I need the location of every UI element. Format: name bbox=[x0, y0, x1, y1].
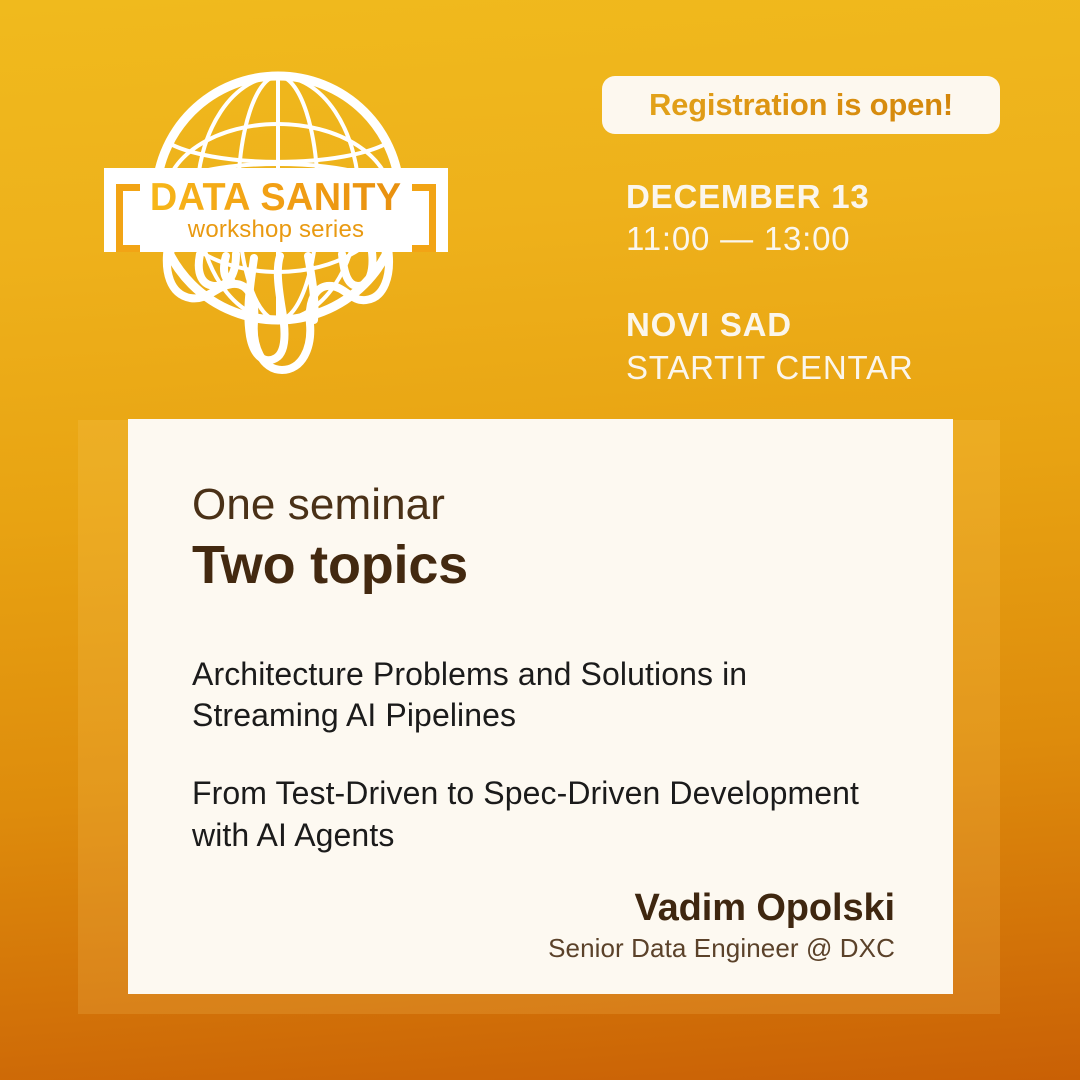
registration-label: Registration is open! bbox=[649, 87, 953, 123]
brand-logo: DATA SANITY workshop series bbox=[104, 58, 452, 388]
topic-list: Architecture Problems and Solutions in S… bbox=[192, 654, 895, 856]
event-details: DECEMBER 13 11:00 — 13:00 NOVI SAD START… bbox=[626, 176, 1046, 389]
event-date: DECEMBER 13 bbox=[626, 176, 1046, 218]
registration-badge[interactable]: Registration is open! bbox=[602, 76, 1000, 134]
topic-item: From Test-Driven to Spec-Driven Developm… bbox=[192, 773, 895, 856]
card-headline: Two topics bbox=[192, 535, 895, 595]
event-venue: STARTIT CENTAR bbox=[626, 347, 1046, 389]
info-spacer bbox=[626, 260, 1046, 304]
logo-title: DATA SANITY bbox=[150, 178, 402, 217]
speaker-block: Vadim Opolski Senior Data Engineer @ DXC bbox=[548, 887, 895, 964]
card-kicker: One seminar bbox=[192, 481, 895, 529]
speaker-role: Senior Data Engineer @ DXC bbox=[548, 933, 895, 964]
logo-subtitle: workshop series bbox=[188, 218, 364, 242]
bracket-left-icon bbox=[116, 184, 140, 252]
speaker-name: Vadim Opolski bbox=[548, 887, 895, 931]
logo-banner: DATA SANITY workshop series bbox=[104, 168, 448, 252]
event-city: NOVI SAD bbox=[626, 304, 1046, 346]
topic-item: Architecture Problems and Solutions in S… bbox=[192, 654, 895, 737]
seminar-card: One seminar Two topics Architecture Prob… bbox=[128, 419, 953, 994]
event-time: 11:00 — 13:00 bbox=[626, 218, 1046, 260]
bracket-right-icon bbox=[412, 184, 436, 252]
event-poster: DATA SANITY workshop series Registration… bbox=[0, 0, 1080, 1080]
